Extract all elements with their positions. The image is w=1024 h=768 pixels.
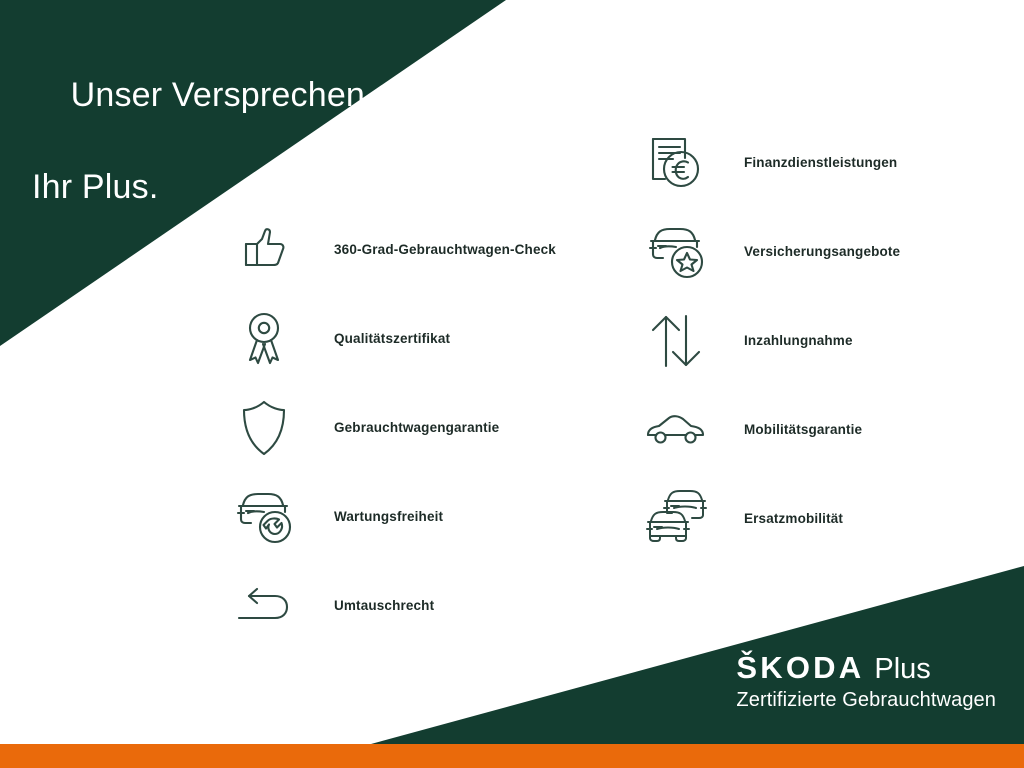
car-star-icon	[644, 216, 708, 288]
feature-item-360-check: 360-Grad-Gebrauchtwagen-Check	[232, 205, 612, 294]
plus-wordmark: Plus	[874, 652, 930, 686]
skoda-wordmark: ŠKODA	[736, 651, 864, 685]
document-euro-icon	[644, 127, 708, 199]
brand-tagline: Zertifizierte Gebrauchtwagen	[736, 687, 996, 713]
brand-logo-lockup: ŠKODA Plus Zertifizierte Gebrauchtwagen	[736, 651, 996, 713]
feature-label: 360-Grad-Gebrauchtwagen-Check	[334, 242, 556, 257]
promo-graphic: Unser Versprechen. Ihr Plus. 360-Grad-Ge…	[0, 0, 1024, 768]
feature-item-return-right: Umtauschrecht	[232, 561, 612, 650]
two-cars-icon	[644, 483, 708, 555]
feature-label: Wartungsfreiheit	[334, 509, 443, 524]
feature-item-warranty: Gebrauchtwagengarantie	[232, 383, 612, 472]
feature-item-maintenance-free: Wartungsfreiheit	[232, 472, 612, 561]
orange-accent-bar	[0, 744, 1024, 768]
feature-column-right: Finanzdienstleistungen Versicherungsange…	[644, 118, 1014, 563]
feature-label: Mobilitätsgarantie	[744, 422, 862, 437]
thumbs-up-icon	[232, 214, 296, 286]
car-side-icon	[644, 394, 708, 466]
feature-label: Finanzdienstleistungen	[744, 155, 897, 170]
feature-label: Qualitätszertifikat	[334, 331, 450, 346]
headline-line-2: Ihr Plus.	[32, 164, 375, 210]
feature-item-financial-services: Finanzdienstleistungen	[644, 118, 1014, 207]
shield-icon	[232, 392, 296, 464]
brand-logo-primary: ŠKODA Plus	[736, 651, 996, 686]
headline-line-1: Unser Versprechen.	[71, 76, 375, 114]
feature-item-trade-in: Inzahlungnahme	[644, 296, 1014, 385]
up-down-arrows-icon	[644, 305, 708, 377]
car-wrench-icon	[232, 481, 296, 553]
feature-item-insurance-offers: Versicherungsangebote	[644, 207, 1014, 296]
feature-column-left: 360-Grad-Gebrauchtwagen-Check Qualitätsz…	[232, 205, 612, 650]
quality-rosette-icon	[232, 303, 296, 375]
feature-label: Ersatzmobilität	[744, 511, 843, 526]
feature-label: Gebrauchtwagengarantie	[334, 420, 499, 435]
feature-item-mobility-guarantee: Mobilitätsgarantie	[644, 385, 1014, 474]
feature-item-replacement-mobility: Ersatzmobilität	[644, 474, 1014, 563]
return-arrow-icon	[232, 570, 296, 642]
feature-item-quality-certificate: Qualitätszertifikat	[232, 294, 612, 383]
feature-label: Umtauschrecht	[334, 598, 434, 613]
feature-label: Inzahlungnahme	[744, 333, 853, 348]
feature-label: Versicherungsangebote	[744, 244, 900, 259]
